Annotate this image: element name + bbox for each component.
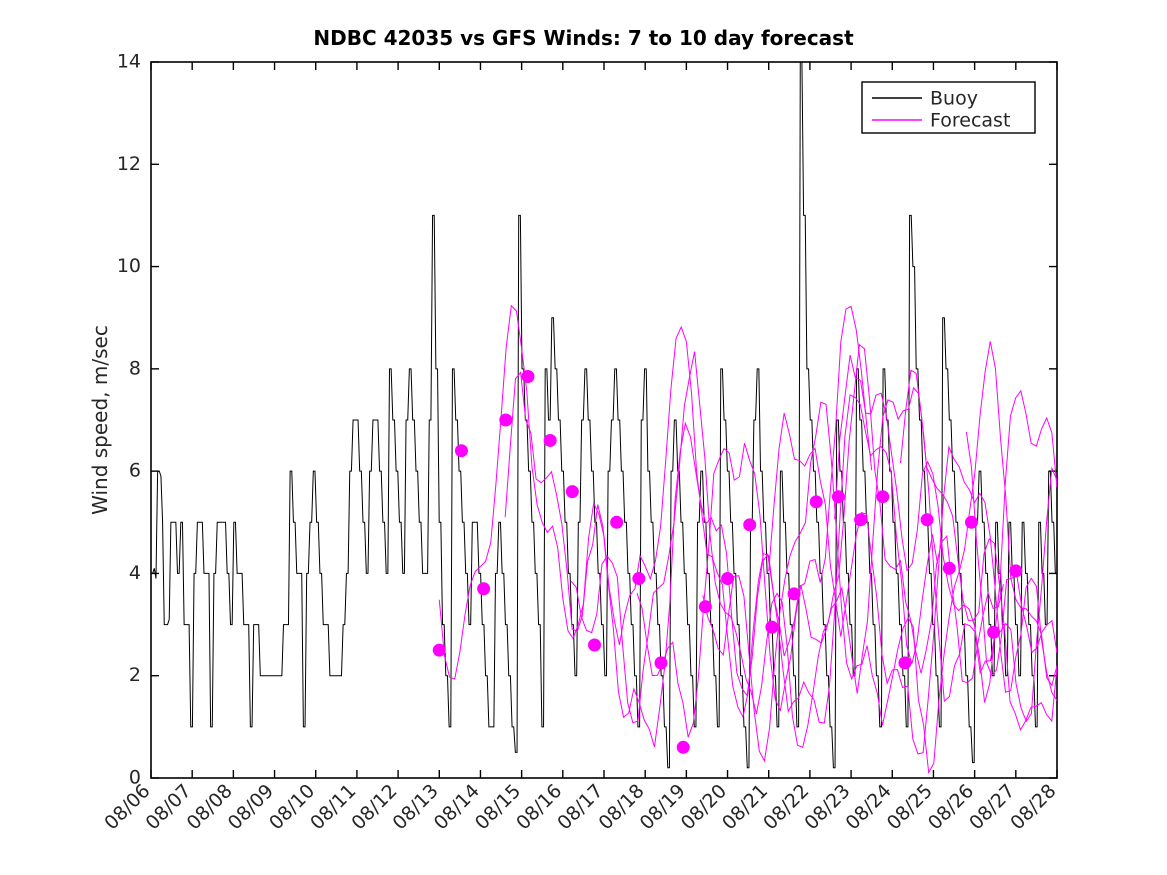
x-tick-label: 08/10 [265, 780, 319, 834]
forecast-marker [610, 516, 623, 529]
forecast-marker [743, 518, 756, 531]
y-tick-label: 10 [117, 255, 141, 277]
forecast-marker [765, 621, 778, 634]
forecast-marker [477, 582, 490, 595]
forecast-marker [655, 656, 668, 669]
forecast-marker [433, 644, 446, 657]
x-tick-label: 08/28 [1006, 780, 1060, 834]
forecast-marker [1009, 564, 1022, 577]
forecast-marker [588, 639, 601, 652]
x-tick-label: 08/20 [677, 780, 731, 834]
forecast-marker [921, 513, 934, 526]
legend[interactable]: Buoy Forecast [862, 82, 1035, 133]
y-tick-label: 14 [117, 51, 141, 73]
x-tick-label: 08/06 [100, 780, 154, 834]
legend-label-buoy: Buoy [930, 88, 978, 110]
chart-figure: NDBC 42035 vs GFS Winds: 7 to 10 day for… [0, 0, 1167, 875]
forecast-marker [521, 370, 534, 383]
x-tick-label: 08/11 [306, 780, 360, 834]
y-tick-label: 6 [129, 460, 141, 482]
axes: 02468101214 08/0608/0708/0808/0908/1008/… [100, 51, 1060, 835]
x-tick-label: 08/15 [471, 780, 525, 834]
x-tick-label: 08/08 [183, 780, 237, 834]
y-tick-label: 8 [129, 357, 141, 379]
x-tick-label: 08/07 [141, 780, 195, 834]
forecast-marker [943, 562, 956, 575]
x-tick-label: 08/19 [636, 780, 690, 834]
x-tick-label: 08/27 [965, 780, 1019, 834]
forecast-marker [721, 572, 734, 585]
forecast-marker [499, 414, 512, 427]
x-tick-label: 08/26 [924, 780, 978, 834]
x-tick-label: 08/25 [883, 780, 937, 834]
x-tick-label: 08/09 [224, 780, 278, 834]
y-tick-labels: 02468101214 [117, 51, 141, 789]
forecast-marker [987, 626, 1000, 639]
x-tick-label: 08/13 [389, 780, 443, 834]
forecast-marker [810, 495, 823, 508]
forecast-marker [965, 516, 978, 529]
legend-label-forecast: Forecast [930, 110, 1010, 132]
forecast-marker [788, 587, 801, 600]
forecast-marker [677, 741, 690, 754]
forecast-marker [699, 600, 712, 613]
y-tick-label: 12 [117, 153, 141, 175]
x-tick-label: 08/14 [430, 780, 484, 834]
x-tick-label: 08/21 [718, 780, 772, 834]
x-tick-label: 08/23 [800, 780, 854, 834]
y-tick-label: 2 [129, 664, 141, 686]
forecast-marker [854, 513, 867, 526]
x-tick-label: 08/17 [553, 780, 607, 834]
forecast-marker [632, 572, 645, 585]
y-tick-label: 4 [129, 562, 141, 584]
forecast-marker [832, 490, 845, 503]
forecast-marker [544, 434, 557, 447]
x-tick-label: 08/18 [594, 780, 648, 834]
plot-canvas: 02468101214 08/0608/0708/0808/0908/1008/… [0, 0, 1167, 875]
x-tick-label: 08/12 [347, 780, 401, 834]
forecast-marker [876, 490, 889, 503]
forecast-marker [455, 444, 468, 457]
x-tick-label: 08/24 [842, 780, 896, 834]
forecast-marker [566, 485, 579, 498]
x-tick-label: 08/22 [759, 780, 813, 834]
forecast-marker [898, 656, 911, 669]
x-tick-label: 08/16 [512, 780, 566, 834]
x-tick-labels: 08/0608/0708/0808/0908/1008/1108/1208/13… [100, 780, 1060, 834]
